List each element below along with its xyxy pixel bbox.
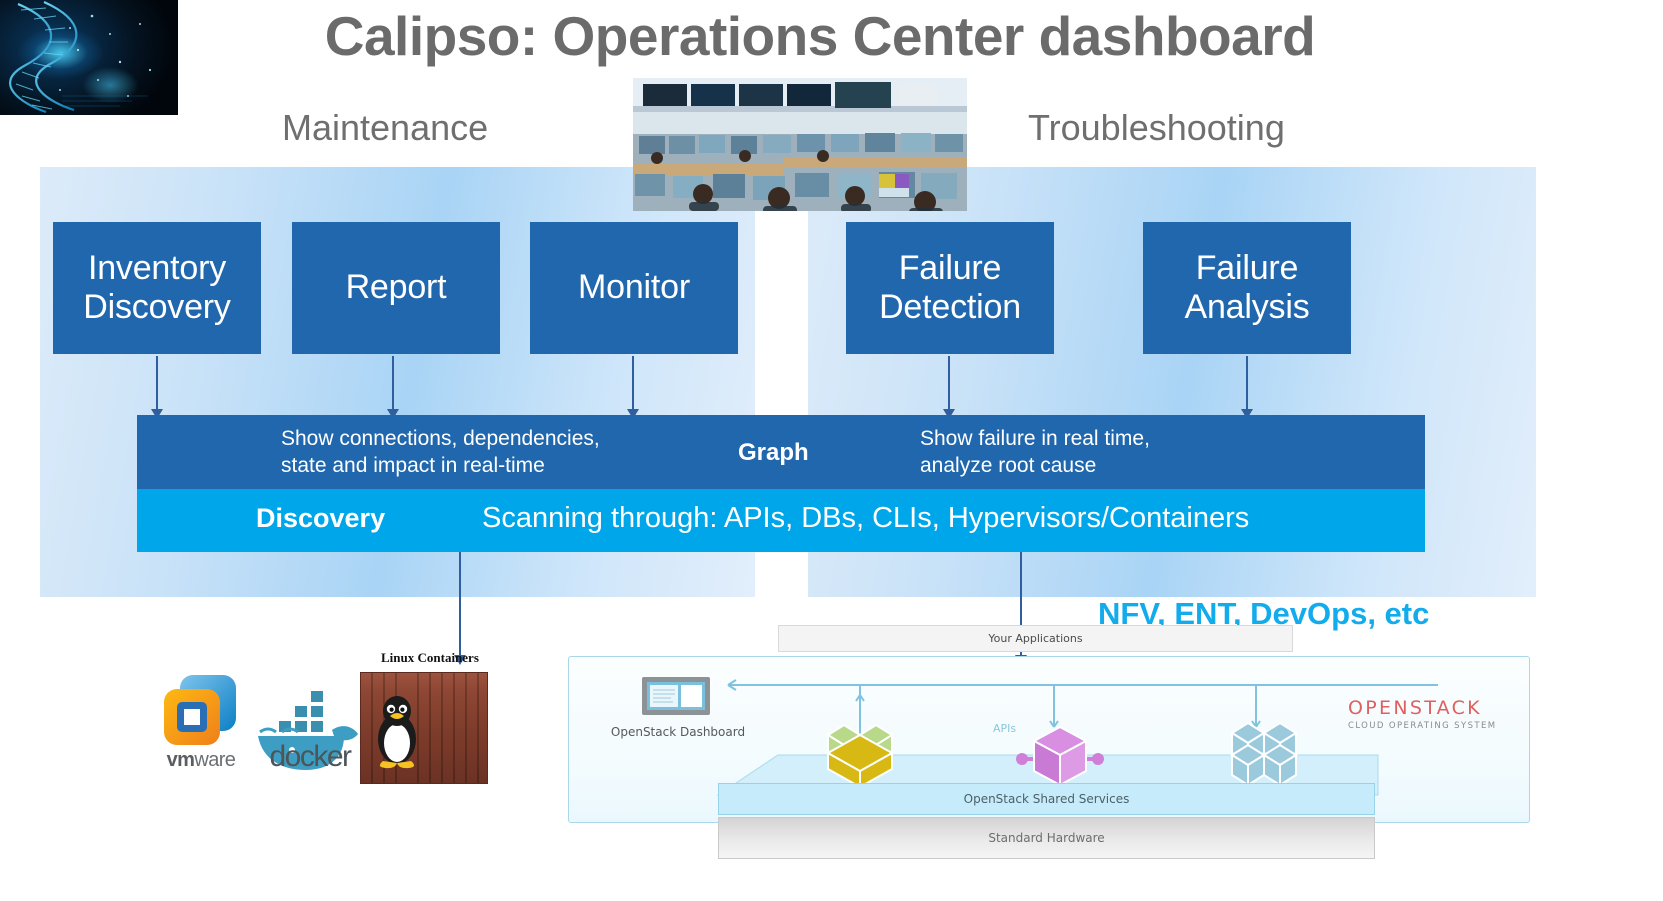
openstack-logo-line1: OPENSTACK [1348, 697, 1498, 719]
graph-left-description: Show connections, dependencies, state an… [281, 426, 600, 480]
function-box-label: Report [346, 268, 447, 307]
arrow-failure-detection-to-graph [948, 356, 950, 410]
openstack-dashboard-label: OpenStack Dashboard [588, 725, 768, 739]
function-box-label: Inventory Discovery [83, 249, 230, 328]
function-box-failure-analysis[interactable]: Failure Analysis [1143, 222, 1351, 354]
graph-right-description: Show failure in real time, analyze root … [920, 426, 1150, 480]
function-box-failure-detection[interactable]: Failure Detection [846, 222, 1054, 354]
openstack-diagram: Your Applications [568, 617, 1528, 901]
standard-hardware-bar: Standard Hardware [718, 817, 1375, 859]
vmware-vm: vm [167, 749, 195, 771]
graph-label: Graph [738, 439, 809, 467]
vmware-ware: ware [194, 749, 235, 771]
arrow-inventory-to-graph [156, 356, 158, 410]
discovery-description: Scanning through: APIs, DBs, CLIs, Hyper… [482, 502, 1249, 535]
openstack-shared-services-bar: OpenStack Shared Services [718, 783, 1375, 815]
operations-center-photo [633, 78, 967, 211]
arrow-report-to-graph [392, 356, 394, 410]
graph-layer-bar: Show connections, dependencies, state an… [137, 415, 1425, 489]
function-box-monitor[interactable]: Monitor [530, 222, 738, 354]
function-box-report[interactable]: Report [292, 222, 500, 354]
docker-wordmark: docker [250, 740, 370, 774]
your-applications-box: Your Applications [778, 625, 1293, 652]
function-box-label: Failure Detection [879, 249, 1021, 328]
arrow-failure-analysis-to-graph [1246, 356, 1248, 410]
discovery-layer-bar: Discovery Scanning through: APIs, DBs, C… [137, 489, 1425, 552]
page-title: Calipso: Operations Center dashboard [170, 6, 1470, 67]
maintenance-caption: Maintenance [282, 107, 488, 149]
vmware-icon [160, 673, 240, 751]
discovery-label: Discovery [256, 503, 385, 534]
linux-containers-caption: Linux Containers [381, 650, 479, 666]
function-box-label: Failure Analysis [1184, 249, 1309, 328]
function-box-label: Monitor [578, 268, 690, 307]
dna-logo-image [0, 0, 178, 115]
function-box-inventory-discovery[interactable]: Inventory Discovery [53, 222, 261, 354]
vmware-wordmark: vmware [154, 749, 248, 772]
linux-container-image [360, 672, 488, 784]
openstack-logo-line2: CLOUD OPERATING SYSTEM [1348, 721, 1498, 731]
vmware-logo: vmware [160, 673, 240, 778]
slide-canvas: Calipso: Operations Center dashboard Mai… [0, 0, 1663, 901]
linux-penguin-icon [373, 691, 421, 769]
arrow-discovery-to-containers [459, 552, 461, 656]
dna-helix-icon [0, 0, 178, 115]
openstack-dashboard-icon [640, 675, 714, 719]
openstack-logo: OPENSTACK CLOUD OPERATING SYSTEM [1348, 697, 1498, 731]
troubleshooting-caption: Troubleshooting [1028, 107, 1285, 149]
noc-photo-art [633, 78, 967, 211]
arrow-monitor-to-graph [632, 356, 634, 410]
